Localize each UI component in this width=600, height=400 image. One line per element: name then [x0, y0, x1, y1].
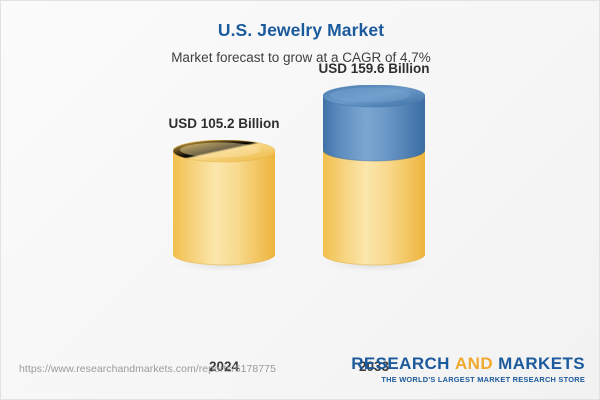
plot-area: USD 105.2 Billion [1, 1, 600, 346]
bar-shape-2033 [323, 85, 425, 272]
logo-word-markets: MARKETS [498, 354, 585, 373]
bar-value-label-2033: USD 159.6 Billion [264, 61, 484, 76]
research-and-markets-logo[interactable]: RESEARCH AND MARKETS THE WORLD'S LARGEST… [351, 354, 585, 384]
bar-group-2033: USD 159.6 Billion [264, 61, 484, 346]
logo-word-research: RESEARCH [351, 354, 450, 373]
chart-footer: https://www.researchandmarkets.com/repor… [1, 347, 600, 399]
logo-word-and: AND [455, 354, 493, 373]
chart-card: U.S. Jewelry Market Market forecast to g… [0, 0, 600, 400]
bar-shape-2024 [173, 140, 275, 272]
logo-wordmark: RESEARCH AND MARKETS [351, 354, 585, 373]
logo-tagline: THE WORLD'S LARGEST MARKET RESEARCH STOR… [351, 375, 585, 384]
bar-cylinder-2033[interactable] [323, 85, 425, 277]
source-url-link[interactable]: https://www.researchandmarkets.com/repor… [19, 363, 276, 375]
bar-cylinder-2024[interactable] [173, 140, 275, 277]
